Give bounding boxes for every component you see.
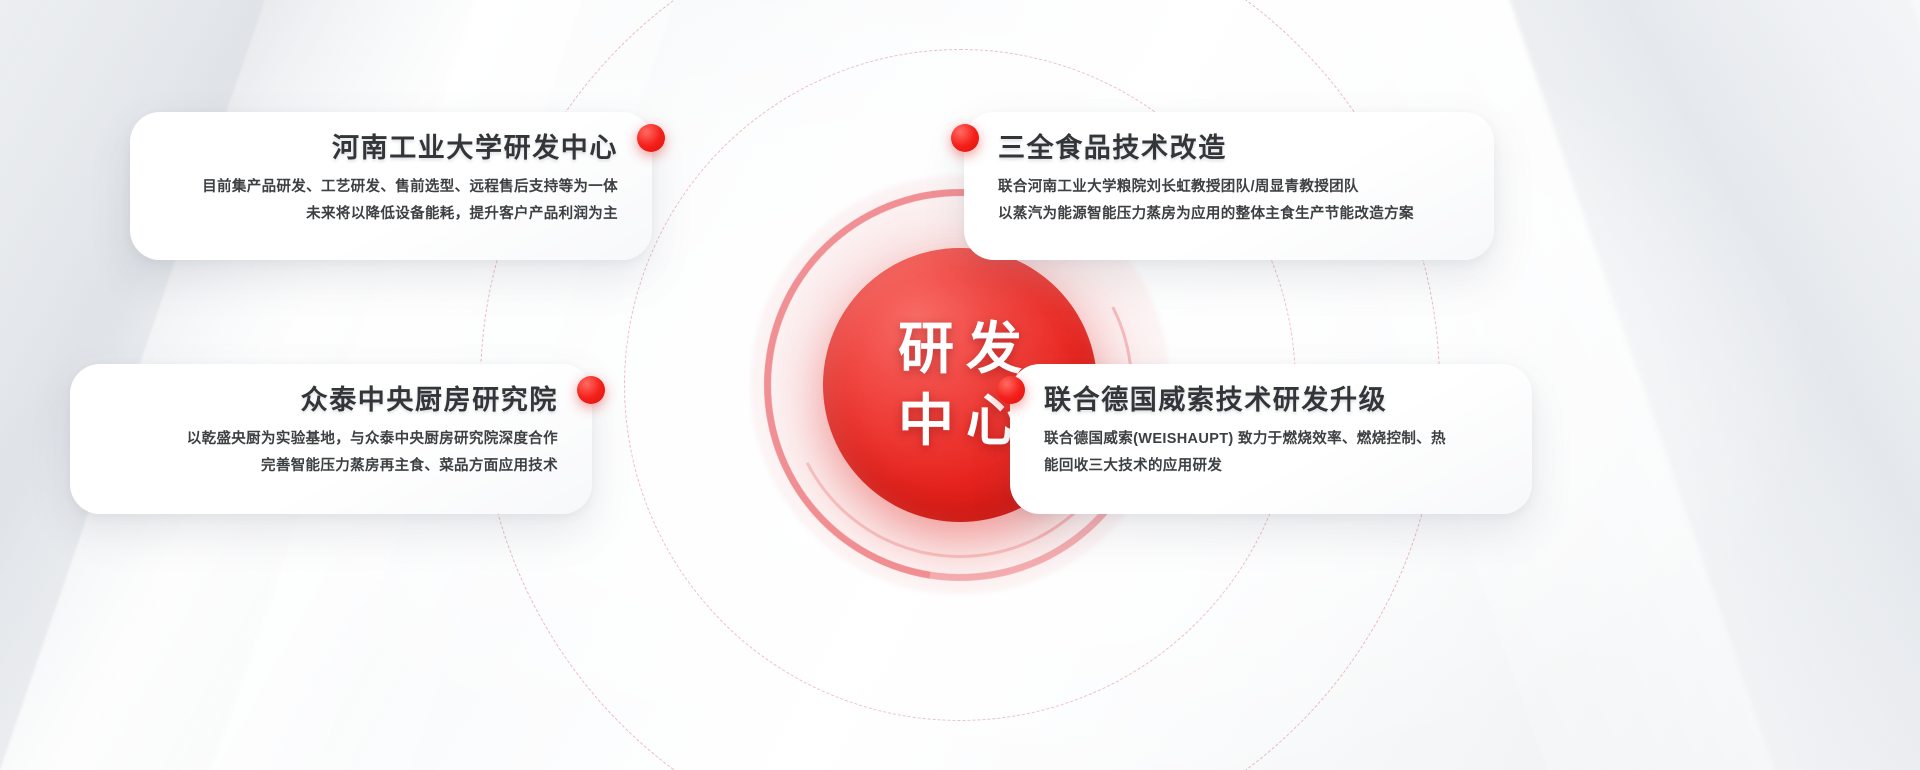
card-zhongtai-central-kitchen-institute[interactable]: 众泰中央厨房研究院 以乾盛央厨为实验基地，与众泰中央厨房研究院深度合作 完善智能… (70, 364, 592, 514)
card-weishaupt-joint-rd-upgrade[interactable]: 联合德国威索技术研发升级 联合德国威索(WEISHAUPT) 致力于燃烧效率、燃… (1010, 364, 1532, 514)
card-henan-university-rd-center[interactable]: 河南工业大学研发中心 目前集产品研发、工艺研发、售前选型、远程售后支持等为一体 … (130, 112, 652, 260)
card-body-line: 完善智能压力蒸房再主食、菜品方面应用技术 (187, 457, 558, 475)
card-body: 联合河南工业大学粮院刘长虹教授团队/周显青教授团队 以蒸汽为能源智能压力蒸房为应… (998, 178, 1414, 223)
card-body-line: 联合德国威索(WEISHAUPT) 致力于燃烧效率、燃烧控制、热 (1044, 430, 1446, 448)
card-body-line: 能回收三大技术的应用研发 (1044, 457, 1446, 475)
card-body-line: 目前集产品研发、工艺研发、售前选型、远程售后支持等为一体 (202, 178, 618, 196)
card-body-line: 以蒸汽为能源智能压力蒸房为应用的整体主食生产节能改造方案 (998, 205, 1414, 223)
card-body-line: 联合河南工业大学粮院刘长虹教授团队/周显青教授团队 (998, 178, 1414, 196)
infographic-stage: 研发 中心 河南工业大学研发中心 目前集产品研发、工艺研发、售前选型、远程售后支… (0, 0, 1920, 770)
card-title: 联合德国威索技术研发升级 (1044, 386, 1387, 416)
card-title: 众泰中央厨房研究院 (301, 386, 558, 416)
card-body-line: 以乾盛央厨为实验基地，与众泰中央厨房研究院深度合作 (187, 430, 558, 448)
card-body: 联合德国威索(WEISHAUPT) 致力于燃烧效率、燃烧控制、热 能回收三大技术… (1044, 430, 1446, 475)
card-body-line: 未来将以降低设备能耗，提升客户产品利润为主 (202, 205, 618, 223)
card-sanquan-food-tech-upgrade[interactable]: 三全食品技术改造 联合河南工业大学粮院刘长虹教授团队/周显青教授团队 以蒸汽为能… (964, 112, 1494, 260)
card-body: 以乾盛央厨为实验基地，与众泰中央厨房研究院深度合作 完善智能压力蒸房再主食、菜品… (187, 430, 558, 475)
card-title: 河南工业大学研发中心 (332, 134, 618, 164)
card-body: 目前集产品研发、工艺研发、售前选型、远程售后支持等为一体 未来将以降低设备能耗，… (202, 178, 618, 223)
card-title: 三全食品技术改造 (998, 134, 1227, 164)
